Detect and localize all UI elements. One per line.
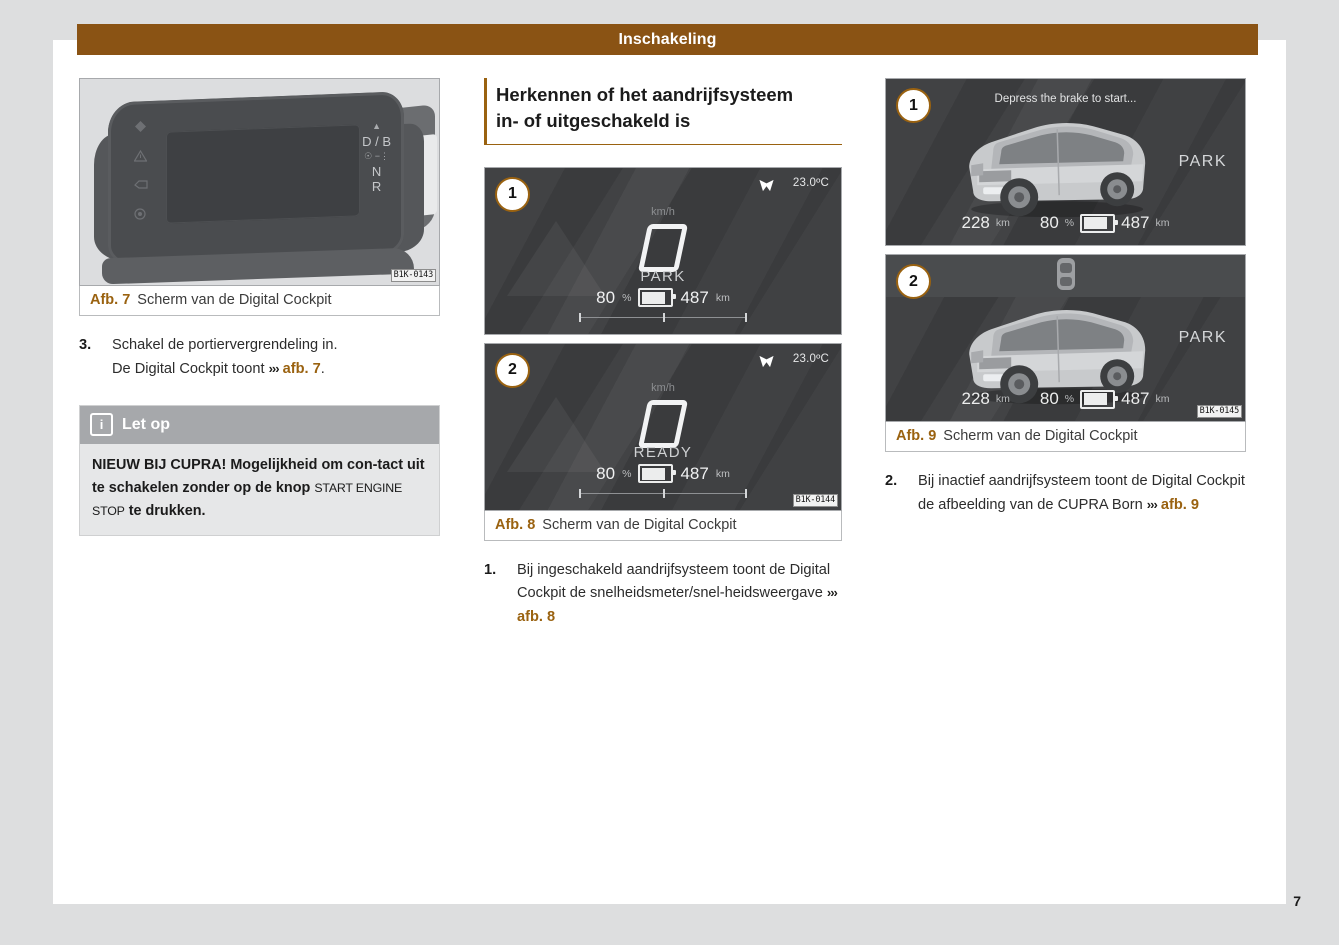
note-box: i Let op NIEUW BIJ CUPRA! Mogelijkheid o… (79, 405, 440, 536)
trip-distance-unit-1: km (996, 217, 1010, 229)
battery-percent-2: 80 (596, 464, 615, 484)
step-1-text-prefix: Bij ingeschakeld aandrijfsysteem toont d… (517, 562, 830, 602)
range-value-1: 487 (680, 288, 708, 308)
cupra-logo-icon (758, 178, 775, 193)
figure-8-caption-text: Scherm van de Digital Cockpit (542, 517, 736, 533)
page-number: 7 (1293, 893, 1301, 909)
speed-unit-label-2: km/h (485, 382, 841, 394)
brake-warning-icon (134, 208, 146, 220)
figure-9-caption-text: Scherm van de Digital Cockpit (943, 428, 1137, 444)
display-temperature-2: 23.0ºC (793, 353, 829, 365)
step-item-2: 2. Bij inactief aandrijfsysteem toont de… (885, 470, 1246, 517)
gear-selector-markings: ▲ D / B ☉ −⋮ N R (362, 119, 391, 194)
warning-triangle-icon (134, 150, 147, 162)
figure-8-panel-1: 1 23.0ºC km/h PARK 80% 487km (484, 167, 842, 335)
battery-icon-2 (1080, 390, 1115, 409)
figure-8-panel-2: 2 23.0ºC km/h READY 80% 487km B1K-0144 (484, 343, 842, 511)
section-heading-line-1: Herkennen of het aandrijfsysteem (496, 82, 842, 108)
figure-8-code: B1K-0144 (793, 494, 838, 507)
drive-state-label-1: PARK (485, 268, 841, 285)
gear-neutral-label: N (362, 164, 391, 179)
range-value-1: 487 (1121, 213, 1149, 233)
step-1-text: Bij ingeschakeld aandrijfsysteem toont d… (517, 559, 842, 630)
battery-percent-unit-2: % (1065, 393, 1074, 405)
right-column: 1 Depress the brake to start... (885, 78, 1246, 517)
figure-9-panel-2: 2 (885, 254, 1246, 422)
gear-reverse-label: R (362, 179, 391, 194)
battery-percent-unit-1: % (622, 292, 631, 304)
battery-percent-2: 80 (1040, 389, 1059, 409)
step-2-text: Bij inactief aandrijfsysteem toont de Di… (918, 470, 1246, 517)
step-2-reference-link[interactable]: afb. 9 (1161, 497, 1199, 513)
step-1-reference-link[interactable]: afb. 8 (517, 609, 555, 625)
range-value-2: 487 (1121, 389, 1149, 409)
figure-8-wrapper: 1 23.0ºC km/h PARK 80% 487km (484, 167, 842, 511)
left-column: ▲ D / B ☉ −⋮ N R B1K-0143 Afb. 7Scherm v… (79, 78, 440, 536)
panel-separator (484, 335, 842, 343)
range-value-2: 487 (680, 464, 708, 484)
gear-drive-brake-label: D / B (362, 134, 391, 149)
battery-icon-1 (1080, 214, 1115, 233)
step-3-line1: Schakel de portiervergrendeling in. (112, 337, 338, 353)
telltale-icon-group (134, 121, 148, 220)
battery-icon-1 (638, 288, 673, 307)
cross-reference-chevrons-icon: ››› (269, 361, 279, 376)
section-heading: Herkennen of het aandrijfsysteem in- of … (484, 78, 842, 145)
digital-cockpit-housing-illustration: ▲ D / B ☉ −⋮ N R (80, 79, 439, 285)
cross-reference-chevrons-icon: ››› (827, 585, 837, 600)
figure-7-image: ▲ D / B ☉ −⋮ N R B1K-0143 (79, 78, 440, 286)
drive-state-label-2: READY (485, 444, 841, 461)
trip-distance-1: 228 (961, 213, 989, 233)
park-gear-glyph-icon-2 (485, 400, 841, 448)
note-box-header: i Let op (80, 406, 439, 444)
cross-reference-chevrons-icon: ››› (1147, 497, 1157, 512)
car-rear-three-quarter-icon (947, 109, 1167, 219)
cockpit-display-park: 1 23.0ºC km/h PARK 80% 487km (485, 168, 841, 334)
gear-parking-icons: ☉ −⋮ (362, 149, 391, 164)
display-temperature-1: 23.0ºC (793, 177, 829, 189)
gear-up-arrow-icon: ▲ (362, 119, 391, 134)
figure-7-caption-label: Afb. 7 (90, 292, 130, 308)
trip-distance-unit-2: km (996, 393, 1010, 405)
page-header-bar: Inschakeling (77, 24, 1258, 55)
cockpit-display-car-park-2: 2 (886, 255, 1245, 421)
battery-percent-unit-2: % (622, 468, 631, 480)
battery-scale-1 (579, 312, 747, 322)
range-status-row-2: 228km 80% 487km (886, 389, 1245, 409)
battery-status-group-2: 80% 487km (1040, 389, 1170, 409)
car-top-view-icon (1053, 257, 1079, 291)
battery-percent-unit-1: % (1065, 217, 1074, 229)
section-heading-line-2: in- of uitgeschakeld is (496, 108, 842, 134)
battery-percent-1: 80 (1040, 213, 1059, 233)
cupra-born-car-illustration (947, 109, 1167, 219)
callout-badge-2: 2 (896, 264, 931, 299)
door-open-icon (134, 180, 148, 190)
figure-9-caption: Afb. 9Scherm van de Digital Cockpit (885, 422, 1246, 452)
trip-distance-group-1: 228km (961, 213, 1009, 233)
cockpit-display-car-park-1: 1 Depress the brake to start... (886, 79, 1245, 245)
info-icon: i (90, 413, 113, 436)
figure-9-caption-label: Afb. 9 (896, 428, 936, 444)
page-title: Inschakeling (618, 31, 716, 49)
range-unit-2: km (716, 468, 730, 480)
step-3-number: 3. (79, 334, 112, 381)
step-item-1: 1. Bij ingeschakeld aandrijfsysteem toon… (484, 559, 842, 630)
figure-7-caption: Afb. 7Scherm van de Digital Cockpit (79, 286, 440, 316)
drive-state-label-park-2: PARK (1179, 329, 1227, 347)
cockpit-display-ready: 2 23.0ºC km/h READY 80% 487km B1K-0144 (485, 344, 841, 510)
note-body-part2: te drukken. (125, 503, 206, 519)
light-beam-icon (134, 121, 147, 132)
step-2-number: 2. (885, 470, 918, 517)
trip-distance-2: 228 (961, 389, 989, 409)
step-1-number: 1. (484, 559, 517, 630)
cupra-logo-icon (758, 354, 775, 369)
step-3-text: Schakel de portiervergrendeling in. De D… (112, 334, 440, 381)
step-3-line2-suffix: . (321, 361, 325, 377)
speed-unit-label-1: km/h (485, 206, 841, 218)
note-box-body: NIEUW BIJ CUPRA! Mogelijkheid om con-tac… (80, 444, 439, 535)
note-box-title: Let op (122, 416, 170, 434)
drive-state-label-park-1: PARK (1179, 153, 1227, 171)
step-3-line2-prefix: De Digital Cockpit toont (112, 361, 269, 377)
range-status-row-1: 228km 80% 487km (886, 213, 1245, 233)
figure-9-panel-1: 1 Depress the brake to start... (885, 78, 1246, 246)
panel-separator (885, 246, 1246, 254)
callout-badge-1: 1 (495, 177, 530, 212)
figure-7-code: B1K-0143 (391, 269, 436, 282)
middle-column: Herkennen of het aandrijfsysteem in- of … (484, 78, 842, 629)
range-unit-2: km (1156, 393, 1170, 405)
step-3-reference-link[interactable]: afb. 7 (283, 361, 321, 377)
battery-icon-2 (638, 464, 673, 483)
figure-8-caption: Afb. 8Scherm van de Digital Cockpit (484, 511, 842, 541)
step-item-3: 3. Schakel de portiervergrendeling in. D… (79, 334, 440, 381)
brake-hint-text: Depress the brake to start... (886, 93, 1245, 105)
park-gear-glyph-icon-1 (485, 224, 841, 272)
range-unit-1: km (716, 292, 730, 304)
figure-8-caption-label: Afb. 8 (495, 517, 535, 533)
battery-status-group-1: 80% 487km (1040, 213, 1170, 233)
range-unit-1: km (1156, 217, 1170, 229)
figure-7-caption-text: Scherm van de Digital Cockpit (137, 292, 331, 308)
figure-9-code: B1K-0145 (1197, 405, 1242, 418)
callout-badge-2: 2 (495, 353, 530, 388)
callout-badge-1: 1 (896, 88, 931, 123)
battery-status-row-2: 80% 487km (485, 464, 841, 484)
battery-percent-1: 80 (596, 288, 615, 308)
cockpit-screen-area (166, 124, 360, 223)
trip-distance-group-2: 228km (961, 389, 1009, 409)
battery-status-row-1: 80% 487km (485, 288, 841, 308)
battery-scale-2 (579, 488, 747, 498)
